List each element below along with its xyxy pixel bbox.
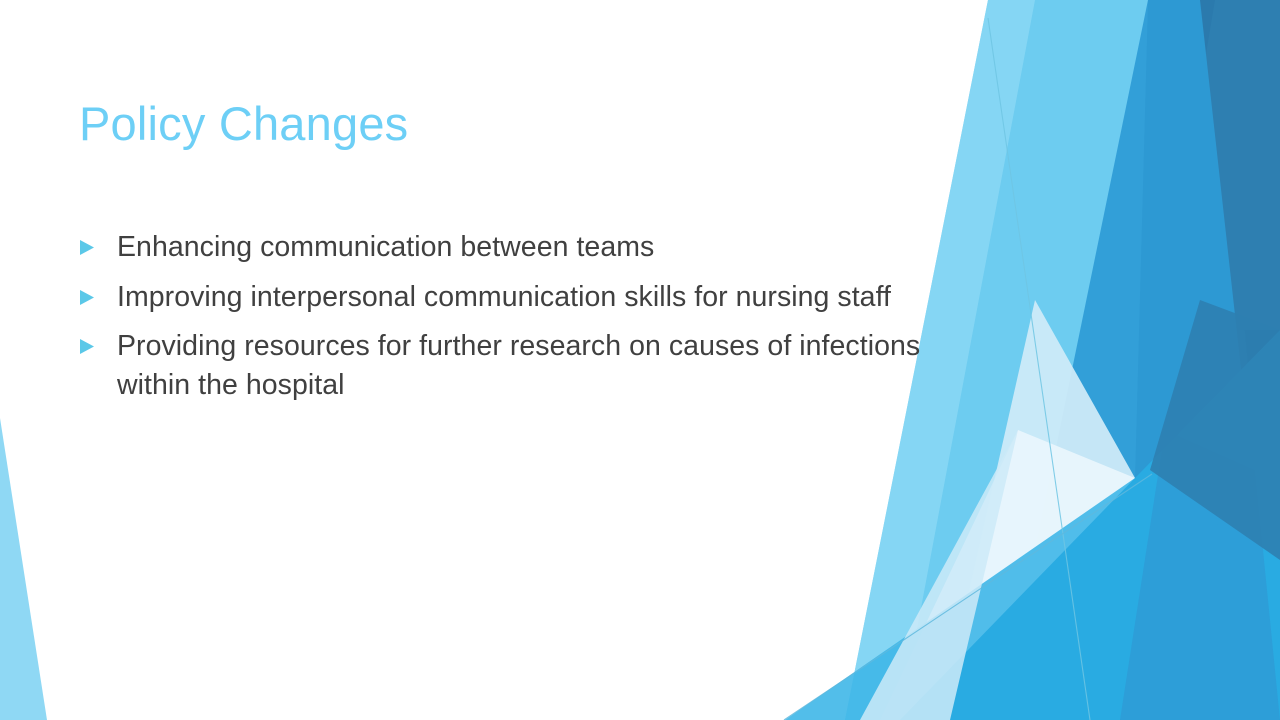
triangle-right-bullet-icon — [79, 228, 117, 256]
bullet-list: Enhancing communication between teams Im… — [79, 228, 939, 415]
presentation-slide: Policy Changes Enhancing communication b… — [0, 0, 1280, 720]
triangle-right-bullet-icon — [79, 327, 117, 355]
page-title: Policy Changes — [79, 97, 408, 151]
triangle-right-bullet-icon — [79, 278, 117, 306]
list-item: Enhancing communication between teams — [79, 228, 939, 267]
list-item-label: Improving interpersonal communication sk… — [117, 278, 939, 317]
slide-content: Policy Changes Enhancing communication b… — [0, 0, 1280, 720]
list-item: Providing resources for further research… — [79, 327, 939, 404]
list-item-label: Providing resources for further research… — [117, 327, 939, 404]
list-item-label: Enhancing communication between teams — [117, 228, 939, 267]
list-item: Improving interpersonal communication sk… — [79, 278, 939, 317]
